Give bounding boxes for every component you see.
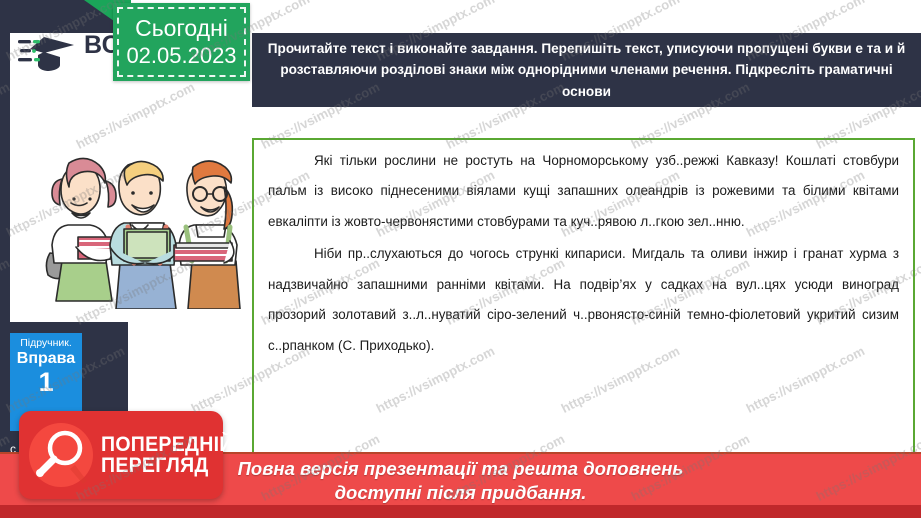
purchase-banner-line-1: Повна версія презентації та решта доповн… (238, 457, 684, 481)
today-date: 02.05.2023 (126, 43, 236, 69)
graduation-cap-icon (18, 33, 80, 74)
slide-canvas: ВСІМ pptx (0, 0, 921, 518)
exercise-text-panel: Які тільки рослини не ростуть на Чорномо… (252, 138, 915, 458)
today-label: Сьогодні (135, 15, 228, 42)
exercise-source-label: Підручник. (10, 337, 82, 349)
three-students-illustration (24, 141, 250, 309)
preview-badge-line-2: ПЕРЕГЛЯД (101, 455, 234, 476)
task-instruction-bar: Прочитайте текст і виконайте завдання. П… (252, 33, 921, 107)
purchase-banner-line-2: доступні після придбання. (238, 481, 684, 505)
exercise-number: 1 (10, 367, 82, 398)
preview-badge-line-1: ПОПЕРЕДНІЙ (101, 434, 234, 455)
exercise-paragraph-2: Ніби пр..слухаються до чогось стрункі ки… (268, 239, 899, 361)
banner-bottom-strip (0, 505, 921, 518)
exercise-kind-label: Вправа (10, 350, 82, 368)
preview-badge-text: ПОПЕРЕДНІЙ ПЕРЕГЛЯД (101, 434, 244, 476)
preview-badge[interactable]: ПОПЕРЕДНІЙ ПЕРЕГЛЯД (19, 411, 223, 499)
magnifier-icon (29, 423, 93, 487)
today-date-badge: Сьогодні 02.05.2023 (113, 3, 250, 81)
exercise-paragraph-1: Які тільки рослини не ростуть на Чорномо… (268, 146, 899, 237)
task-instruction-text: Прочитайте текст і виконайте завдання. П… (264, 38, 909, 101)
